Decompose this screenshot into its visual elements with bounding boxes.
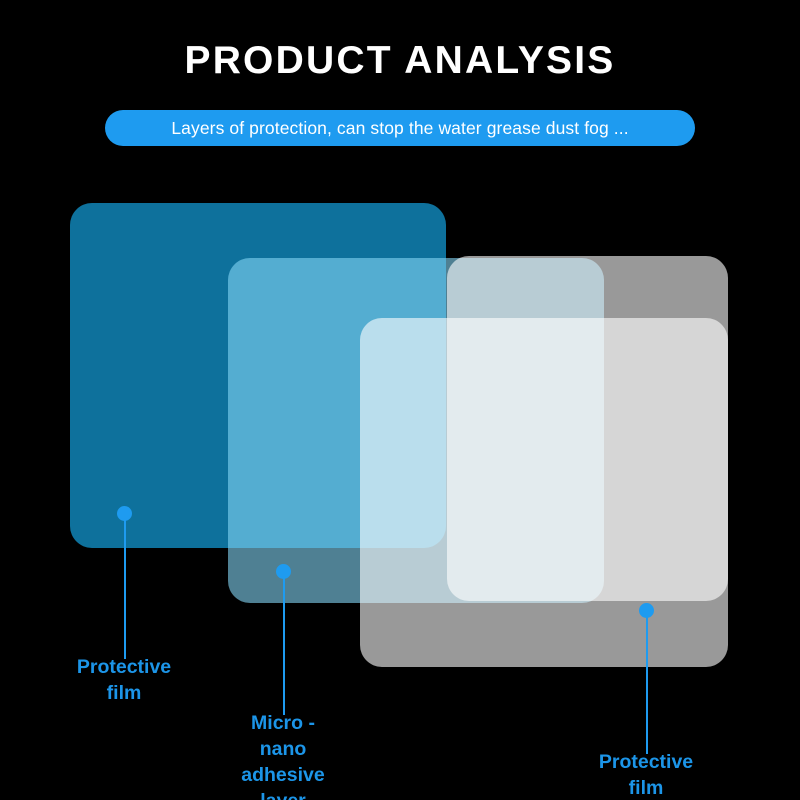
callout-leader-line <box>283 577 285 715</box>
callout-middle-label: Micro - nano adhesive layer <box>241 710 324 800</box>
product-analysis-infographic: PRODUCT ANALYSIS Layers of protection, c… <box>0 0 800 800</box>
callout-leader-line <box>124 519 126 659</box>
callout-right-label: Protective film <box>599 749 693 800</box>
layer-4-protective-film <box>360 318 728 667</box>
callout-leader-line <box>646 616 648 754</box>
callout-left-label: Protective film <box>77 654 171 706</box>
